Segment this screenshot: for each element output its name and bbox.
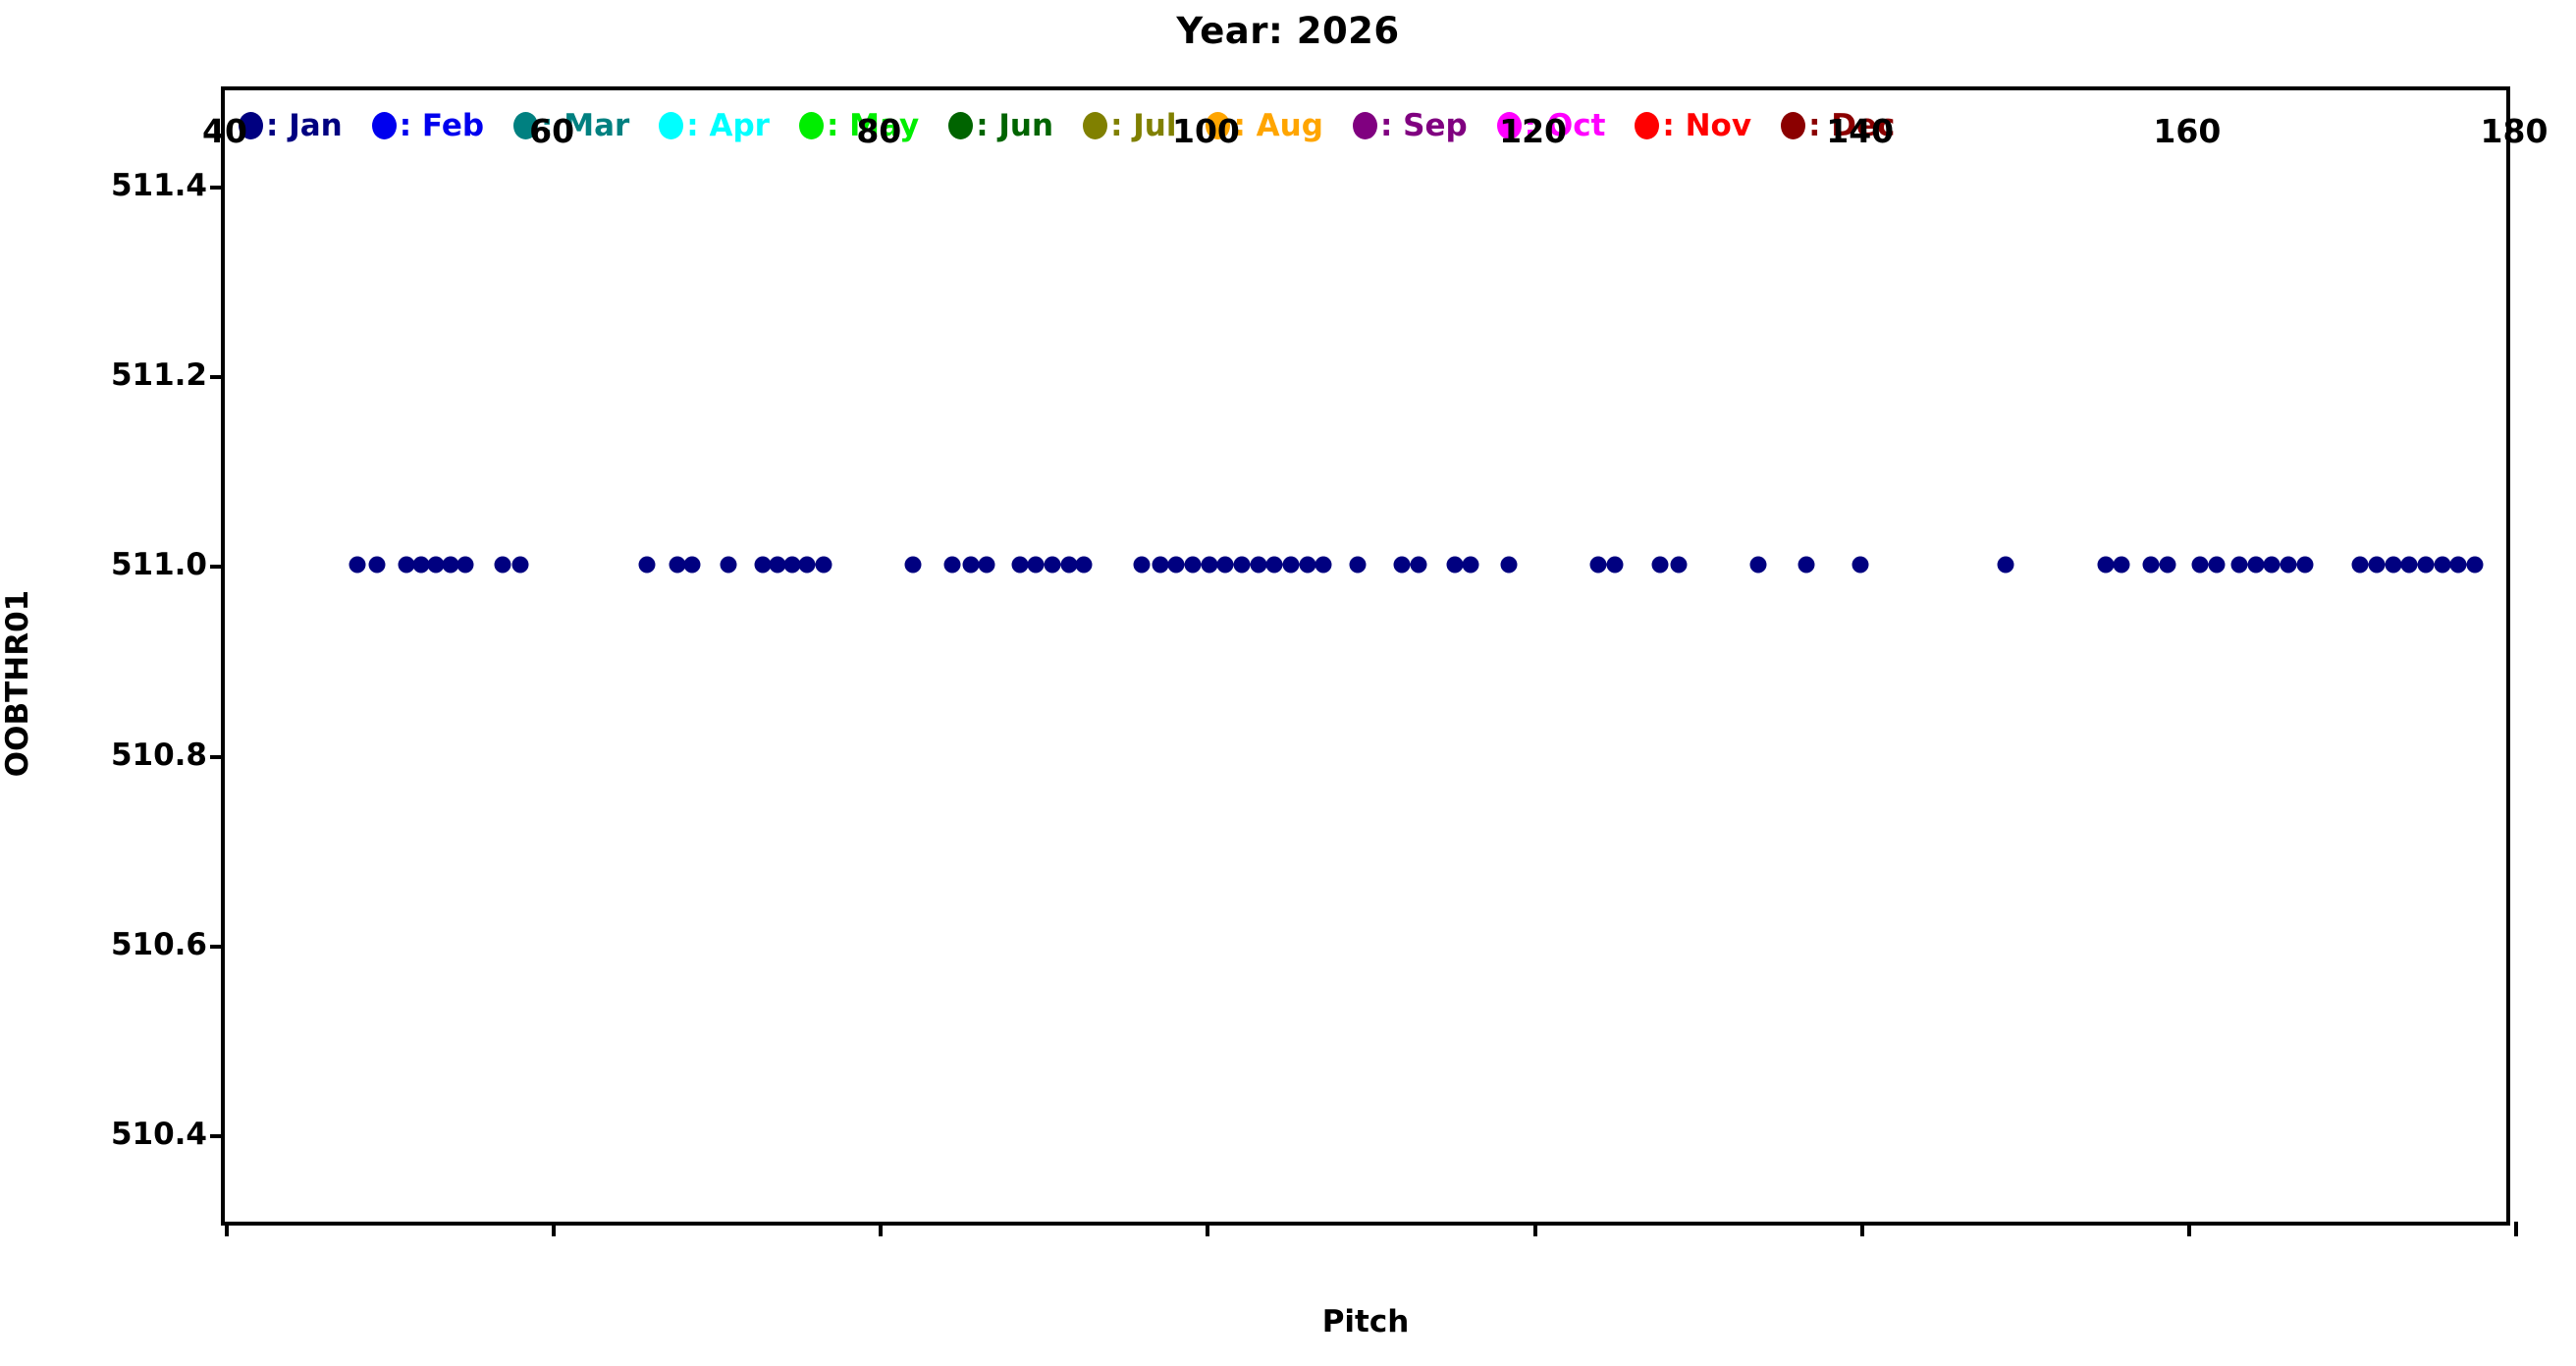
- data-point: [1185, 557, 1202, 574]
- data-point: [2159, 557, 2175, 574]
- data-point: [1201, 557, 1217, 574]
- x-tick-mark: [879, 1222, 883, 1236]
- data-point: [2369, 557, 2386, 574]
- legend-marker-icon: [372, 112, 397, 139]
- legend-marker-icon: [1353, 112, 1377, 139]
- x-tick-label: 120: [1499, 112, 1567, 150]
- y-tick-mark: [210, 565, 225, 569]
- legend-marker-icon: [799, 112, 824, 139]
- data-point: [1152, 557, 1168, 574]
- data-point: [1606, 557, 1623, 574]
- x-tick-label: 80: [856, 112, 901, 150]
- data-point: [1652, 557, 1669, 574]
- plot-area: [225, 90, 2506, 1222]
- y-tick-label: 510.8: [111, 738, 207, 773]
- x-tick-label: 180: [2481, 112, 2549, 150]
- x-tick-mark: [225, 1222, 229, 1236]
- legend-entry-feb[interactable]: : Feb: [372, 108, 484, 143]
- legend-entry-label: : Jun: [976, 108, 1053, 143]
- data-point: [979, 557, 995, 574]
- data-point: [1168, 557, 1185, 574]
- data-point: [1044, 557, 1060, 574]
- y-tick-label: 511.0: [111, 547, 207, 582]
- x-tick-label: 160: [2153, 112, 2221, 150]
- data-point: [2352, 557, 2369, 574]
- data-point: [944, 557, 961, 574]
- legend-entry-label: : Jan: [266, 108, 343, 143]
- data-point: [2097, 557, 2114, 574]
- y-tick-mark: [210, 375, 225, 379]
- data-point: [1463, 557, 1479, 574]
- data-point: [512, 557, 529, 574]
- y-tick-label: 511.2: [111, 357, 207, 393]
- data-point: [2247, 557, 2264, 574]
- data-point: [349, 557, 365, 574]
- data-point: [798, 557, 815, 574]
- y-tick-mark: [210, 945, 225, 949]
- data-point: [1997, 557, 2013, 574]
- x-tick-mark: [1533, 1222, 1537, 1236]
- data-point: [1299, 557, 1315, 574]
- x-tick-mark: [2514, 1222, 2518, 1236]
- data-point: [1670, 557, 1687, 574]
- data-point: [1234, 557, 1251, 574]
- data-point: [368, 557, 385, 574]
- x-tick-label: 60: [529, 112, 574, 150]
- data-point: [1217, 557, 1234, 574]
- data-point: [1446, 557, 1463, 574]
- legend-entry-jul[interactable]: : Jul: [1083, 108, 1176, 143]
- legend-entry-label: : Aug: [1233, 108, 1322, 143]
- data-point: [2385, 557, 2401, 574]
- x-tick-label: 40: [202, 112, 247, 150]
- data-point: [905, 557, 922, 574]
- x-tick-label: 100: [1172, 112, 1240, 150]
- data-point: [1075, 557, 1092, 574]
- data-point: [684, 557, 701, 574]
- data-point: [2114, 557, 2130, 574]
- plot-axes: : Jan: Feb: Mar: Apr: May: Jun: Jul: Aug…: [221, 86, 2510, 1226]
- legend-marker-icon: [948, 112, 973, 139]
- data-point: [2143, 557, 2160, 574]
- data-point: [456, 557, 473, 574]
- x-tick-mark: [2187, 1222, 2191, 1236]
- data-point: [638, 557, 655, 574]
- data-point: [2418, 557, 2435, 574]
- legend-entry-label: : Nov: [1662, 108, 1751, 143]
- x-tick-mark: [1860, 1222, 1864, 1236]
- data-point: [2434, 557, 2450, 574]
- data-point: [1798, 557, 1814, 574]
- data-point: [1028, 557, 1045, 574]
- data-point: [1250, 557, 1266, 574]
- data-point: [1750, 557, 1767, 574]
- data-point: [2467, 557, 2484, 574]
- legend-entry-apr[interactable]: : Apr: [659, 108, 770, 143]
- legend-marker-icon: [1781, 112, 1805, 139]
- data-point: [1266, 557, 1283, 574]
- data-point: [2192, 557, 2209, 574]
- data-point: [2401, 557, 2418, 574]
- data-point: [2450, 557, 2467, 574]
- data-point: [815, 557, 832, 574]
- legend-entry-label: : Jul: [1110, 108, 1176, 143]
- data-point: [1011, 557, 1028, 574]
- scatter-plot-figure: Year: 2026 OOBTHR01 Pitch : Jan: Feb: Ma…: [0, 0, 2576, 1366]
- legend-marker-icon: [1635, 112, 1659, 139]
- data-point: [1410, 557, 1426, 574]
- data-point: [1350, 557, 1367, 574]
- y-tick-label: 510.4: [111, 1117, 207, 1152]
- legend-entry-label: : Sep: [1380, 108, 1468, 143]
- y-tick-label: 511.4: [111, 168, 207, 203]
- data-point: [1500, 557, 1517, 574]
- x-tick-mark: [1206, 1222, 1209, 1236]
- data-point: [2231, 557, 2248, 574]
- legend-marker-icon: [659, 112, 683, 139]
- x-tick-mark: [552, 1222, 556, 1236]
- x-axis-label: Pitch: [221, 1304, 2510, 1339]
- data-point: [2208, 557, 2225, 574]
- y-axis-label: OOBTHR01: [0, 589, 35, 776]
- data-point: [2264, 557, 2281, 574]
- legend-entry-label: : Feb: [400, 108, 484, 143]
- data-point: [1590, 557, 1607, 574]
- legend-entry-sep[interactable]: : Sep: [1353, 108, 1468, 143]
- data-point: [2296, 557, 2313, 574]
- page-title: Year: 2026: [0, 10, 2576, 52]
- data-point: [1394, 557, 1411, 574]
- data-point: [1315, 557, 1332, 574]
- data-point: [1851, 557, 1868, 574]
- legend-entry-nov[interactable]: : Nov: [1635, 108, 1751, 143]
- data-point: [1283, 557, 1300, 574]
- legend-marker-icon: [1083, 112, 1107, 139]
- y-tick-mark: [210, 1134, 225, 1138]
- legend-entry-label: : Apr: [686, 108, 770, 143]
- y-tick-mark: [210, 186, 225, 190]
- x-tick-label: 140: [1826, 112, 1894, 150]
- legend-entry-jan[interactable]: : Jan: [239, 108, 343, 143]
- y-tick-mark: [210, 755, 225, 759]
- data-point: [1134, 557, 1151, 574]
- data-point: [962, 557, 979, 574]
- data-point: [2281, 557, 2297, 574]
- y-tick-label: 510.6: [111, 927, 207, 962]
- data-point: [721, 557, 737, 574]
- data-point: [495, 557, 511, 574]
- legend-entry-jun[interactable]: : Jun: [948, 108, 1053, 143]
